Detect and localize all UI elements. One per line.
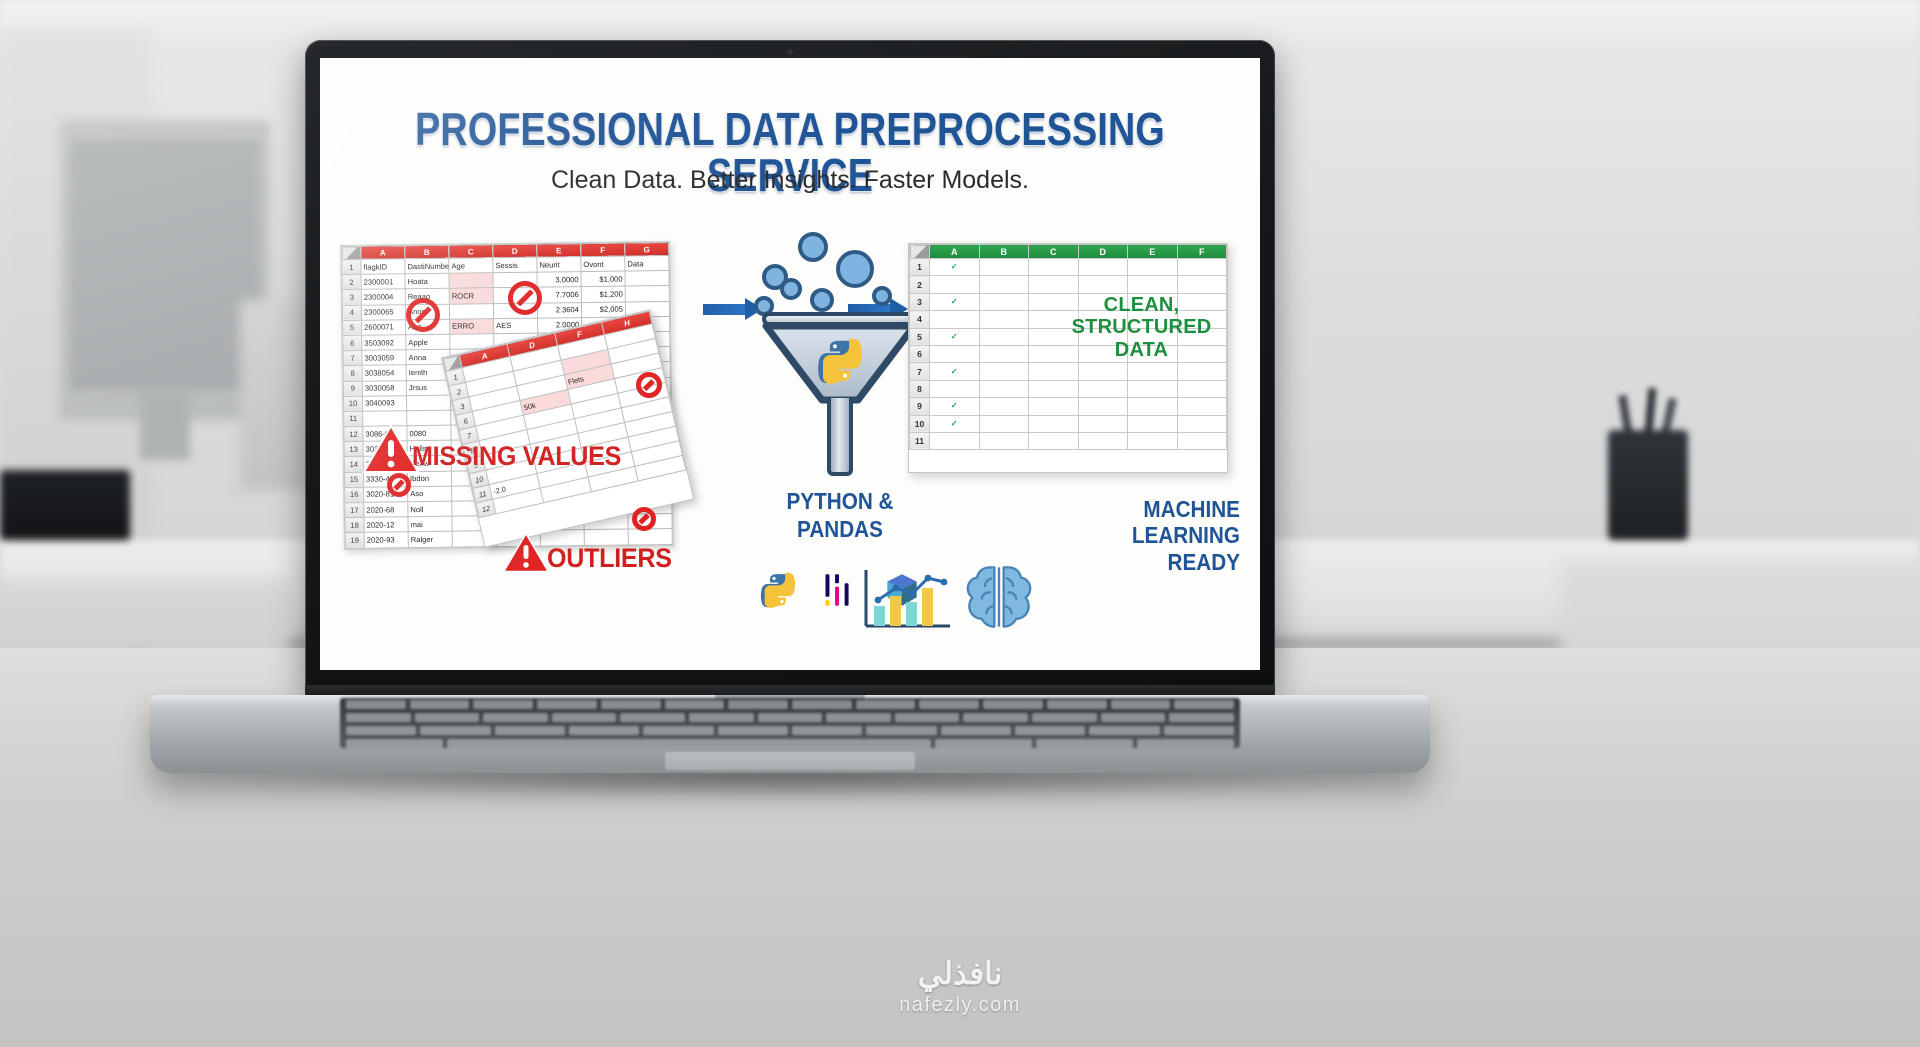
cell [1128, 415, 1178, 432]
col-head-b[interactable]: B [979, 245, 1029, 259]
cell [1078, 380, 1128, 397]
row-number[interactable]: 3 [910, 293, 930, 310]
keyboard[interactable] [340, 698, 1240, 748]
table-row: 11 [910, 432, 1227, 449]
check-icon: ✓ [930, 398, 980, 415]
row-number[interactable]: 7 [910, 363, 930, 380]
col-head-a[interactable]: A [361, 246, 405, 260]
cell-a: 3003059 [362, 350, 406, 366]
cell-c: ERRO [450, 318, 494, 334]
col-head-e[interactable]: E [1128, 245, 1178, 259]
watermark: نافذلي nafezly.com [0, 956, 1920, 1017]
cell [1128, 432, 1178, 449]
row-number[interactable]: 2 [342, 274, 361, 289]
cell-a: 2300004 [361, 289, 405, 305]
cell [1078, 398, 1128, 415]
cell-b: Aso [408, 486, 452, 502]
data-bubble [780, 278, 802, 300]
cell [1128, 276, 1178, 293]
cell [979, 293, 1029, 310]
cell-c: ROCR [449, 288, 493, 304]
col-head-c[interactable]: C [449, 245, 493, 259]
cell-a: 3038054 [362, 365, 406, 381]
cell [1078, 363, 1128, 380]
data-bubble [872, 286, 892, 306]
cell [1078, 259, 1128, 276]
cell [1128, 259, 1178, 276]
trackpad[interactable] [665, 752, 915, 770]
field-name-a: flagkID [361, 259, 405, 275]
row-number[interactable]: 11 [910, 432, 930, 449]
cell-b: Jrsus [406, 380, 450, 396]
cell-e: 2.3604 [537, 302, 581, 318]
col-head-d[interactable]: D [493, 244, 537, 258]
cell [979, 311, 1029, 328]
brain-icon [960, 558, 1038, 636]
row-number[interactable]: 9 [343, 381, 362, 396]
cell-b: Hoata [405, 273, 449, 289]
cell-f: $2,005 [581, 302, 625, 318]
table-row: 7 ✓ [910, 363, 1227, 380]
no-entry-icon [406, 298, 440, 332]
cell [979, 415, 1029, 432]
cell [1177, 363, 1227, 380]
row-number[interactable]: 6 [910, 345, 930, 362]
cell-a: 2300065 [361, 304, 405, 320]
check-icon: ✓ [930, 328, 980, 345]
cell-a: 3503092 [362, 335, 406, 351]
clean-label-line-1: CLEAN, [1059, 294, 1224, 316]
row-number[interactable]: 16 [345, 487, 364, 502]
cell-a: 2300001 [361, 274, 405, 290]
cell [979, 432, 1029, 449]
clean-label-line-3: DATA [1059, 339, 1224, 361]
col-head-b[interactable]: B [405, 245, 449, 259]
row-number[interactable]: 2 [910, 276, 930, 293]
cell-c [449, 303, 493, 319]
cell [930, 345, 980, 362]
cell-g [625, 286, 669, 302]
table-row: 10 ✓ [910, 415, 1227, 432]
table-row: 8 [910, 380, 1227, 397]
field-name-f: Ovont [581, 256, 625, 272]
cell-a: 2020-12 [364, 517, 408, 533]
no-entry-icon [508, 281, 542, 315]
row-number[interactable]: 10 [910, 415, 930, 432]
data-bubble [836, 250, 874, 288]
outliers-label: OUTLIERS [547, 543, 672, 574]
col-head-d[interactable]: D [1078, 245, 1128, 259]
cell [1029, 432, 1079, 449]
funnel-stem [827, 398, 853, 476]
data-bubble [798, 232, 828, 262]
row-number[interactable]: 1 [342, 259, 361, 274]
funnel-group [750, 220, 930, 480]
col-head-f[interactable]: F [1177, 245, 1227, 259]
messy-data-group: A B C D E F G 1 flagkID DastiNumber [342, 243, 687, 553]
cell [1128, 398, 1178, 415]
col-head-e[interactable]: E [537, 244, 581, 258]
row-number[interactable]: 13 [344, 442, 363, 457]
table-row: 1 ✓ [910, 259, 1227, 276]
cell [930, 432, 980, 449]
python-pandas-caption: PYTHON & PANDAS [732, 488, 948, 543]
cell-f: $1,200 [581, 286, 625, 302]
row-number[interactable]: 3 [342, 290, 361, 305]
col-head-g[interactable]: G [625, 243, 669, 257]
cell-b: mai [408, 516, 452, 532]
row-number[interactable]: 6 [343, 335, 362, 350]
row-number[interactable]: 12 [344, 426, 363, 441]
col-head-a[interactable]: A [930, 245, 980, 259]
ml-line-1: MACHINE [1042, 496, 1240, 522]
check-icon: ✓ [930, 415, 980, 432]
pandas-logo [822, 572, 856, 608]
bar-line-chart-icon [858, 566, 954, 634]
table-row: 2 [910, 276, 1227, 293]
row-number[interactable]: 4 [910, 311, 930, 328]
row-number[interactable]: 1 [910, 259, 930, 276]
col-head-c[interactable]: C [1029, 245, 1079, 259]
cell [1029, 363, 1079, 380]
laptop: PROFESSIONAL DATA PREPROCESSING SERVICE … [150, 40, 1430, 800]
cell-a: 2600071 [362, 319, 406, 335]
cell [1029, 276, 1079, 293]
cell [979, 398, 1029, 415]
missing-values-label: MISSING VALUES [412, 441, 621, 472]
cell-b: Noll [408, 501, 452, 517]
cell [979, 345, 1029, 362]
ml-line-3: READY [1042, 549, 1240, 575]
cell-a: 3040093 [362, 395, 406, 411]
cell [1128, 380, 1178, 397]
row-number[interactable]: 7 [343, 350, 362, 365]
check-icon: ✓ [930, 259, 980, 276]
cell-f: $1,000 [581, 271, 625, 287]
col-head-f[interactable]: F [581, 243, 625, 257]
python-logo [817, 338, 863, 384]
check-icon: ✓ [930, 293, 980, 310]
machine-learning-caption: MACHINE LEARNING READY [1042, 496, 1240, 575]
pen-cup [1608, 430, 1688, 540]
cell [979, 363, 1029, 380]
field-name-c: Age [449, 258, 493, 274]
row-number[interactable]: 5 [343, 320, 362, 335]
cell-b: Apple [406, 334, 450, 350]
cell-b: Ralger [408, 532, 452, 548]
cell [1078, 276, 1128, 293]
table-row: 9 ✓ [910, 398, 1227, 415]
data-bubble [810, 288, 834, 312]
cell [930, 276, 980, 293]
cell-g [625, 271, 669, 287]
row-number[interactable]: 8 [343, 366, 362, 381]
cell [1029, 380, 1079, 397]
field-name-b: DastiNumber [405, 258, 449, 274]
row-number[interactable]: 11 [344, 411, 363, 426]
cell-e: 3.0000 [537, 272, 581, 288]
warning-triangle-icon [502, 531, 550, 574]
ml-line-2: LEARNING [1042, 522, 1240, 548]
no-entry-icon [636, 372, 662, 398]
cell [979, 276, 1029, 293]
cell [1029, 259, 1079, 276]
check-icon: ✓ [930, 363, 980, 380]
caption-line-1: PYTHON & [732, 488, 948, 516]
field-name-e: Neurit [537, 257, 581, 273]
cell [930, 311, 980, 328]
cell-a: 3030058 [362, 380, 406, 396]
row-number[interactable]: 8 [910, 380, 930, 397]
row-number[interactable]: 18 [345, 517, 364, 532]
cell [979, 259, 1029, 276]
cell [1177, 398, 1227, 415]
cell [1128, 363, 1178, 380]
cell [1177, 380, 1227, 397]
row-number[interactable]: 5 [910, 328, 930, 345]
cell [930, 380, 980, 397]
slide-canvas: PROFESSIONAL DATA PREPROCESSING SERVICE … [320, 58, 1260, 670]
watermark-arabic: نافذلي [0, 956, 1920, 992]
row-number[interactable]: 4 [342, 305, 361, 320]
cell [1177, 415, 1227, 432]
field-name-d: Sessis [493, 257, 537, 273]
cell [1177, 276, 1227, 293]
cell [1078, 415, 1128, 432]
page-subtitle: Clean Data. Better Insights. Faster Mode… [320, 166, 1260, 195]
row-number[interactable]: 10 [343, 396, 362, 411]
dark-box [0, 470, 130, 540]
cell-c [449, 273, 493, 289]
cell-b [406, 395, 450, 411]
cell-e: 7.7006 [537, 287, 581, 303]
no-entry-icon [632, 507, 656, 531]
clean-spreadsheet: A B C D E F 1 ✓ 2 [908, 243, 1228, 473]
cell-a: 2020-68 [364, 502, 408, 518]
cell-a: 2020-93 [364, 532, 408, 548]
row-number[interactable]: 17 [345, 502, 364, 517]
cell [1177, 432, 1227, 449]
cell [1177, 259, 1227, 276]
cell [979, 328, 1029, 345]
python-logo [760, 572, 796, 608]
webcam [787, 49, 793, 55]
cell [1078, 432, 1128, 449]
row-number[interactable]: 19 [345, 533, 364, 548]
select-all-corner[interactable] [910, 245, 930, 259]
caption-line-2: PANDAS [732, 516, 948, 544]
laptop-screen: PROFESSIONAL DATA PREPROCESSING SERVICE … [320, 58, 1260, 670]
row-number[interactable]: 9 [910, 398, 930, 415]
cell [1029, 398, 1079, 415]
clean-label-line-2: STRUCTURED [1059, 316, 1224, 338]
clean-data-label: CLEAN, STRUCTURED DATA [1059, 294, 1224, 361]
field-name-g: Data [625, 256, 669, 272]
row-number[interactable]: 14 [344, 457, 363, 472]
row-number[interactable]: 15 [344, 472, 363, 487]
cell [979, 380, 1029, 397]
select-all-corner[interactable] [342, 246, 361, 259]
cell [1029, 415, 1079, 432]
watermark-latin: nafezly.com [0, 994, 1920, 1017]
cell-d: AES [494, 318, 538, 334]
no-entry-icon [387, 473, 411, 497]
table-header-row: A B C D E F [910, 245, 1227, 259]
